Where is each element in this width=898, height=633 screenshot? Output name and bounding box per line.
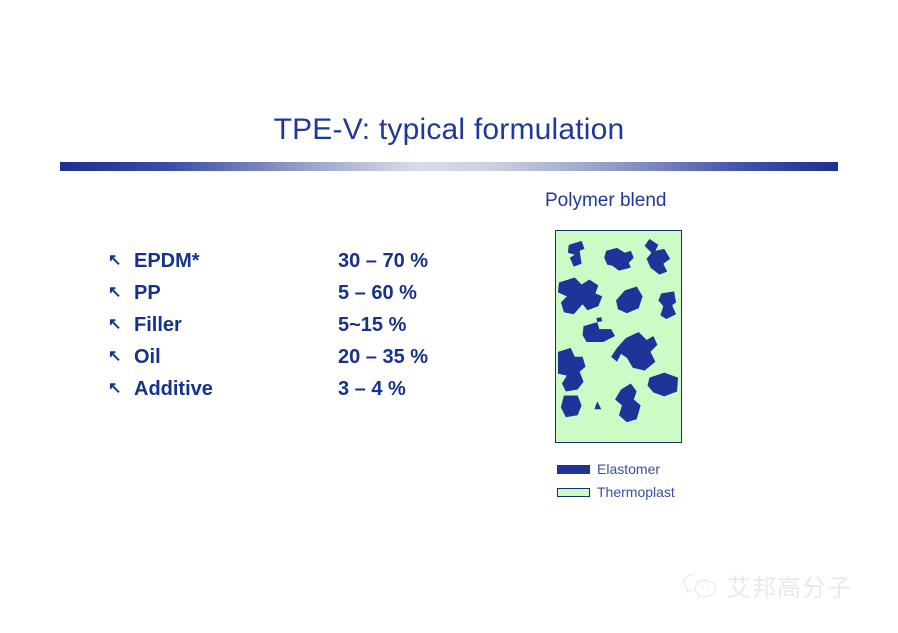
arrow-northwest-icon: ↖ [108,245,130,277]
component-value: 20 – 35 % [338,341,428,373]
watermark: 艾邦高分子 [682,568,852,603]
component-label: Additive [134,373,213,405]
component-value: 5 – 60 % [338,277,417,309]
list-item: ↖ Additive 3 – 4 % [108,373,468,405]
wechat-bubbles-icon [682,571,718,601]
legend-label: Thermoplast [597,481,675,504]
legend-label: Elastomer [597,458,660,481]
component-value: 5~15 % [338,309,406,341]
legend-item-thermoplast: Thermoplast [557,481,757,504]
title-divider-bar [60,162,838,171]
legend-swatch-elastomer-icon [557,465,590,474]
arrow-northwest-icon: ↖ [108,341,130,373]
arrow-northwest-icon: ↖ [108,309,130,341]
component-label: PP [134,277,161,309]
slide-canvas: TPE-V: typical formulation ↖ EPDM* 30 – … [0,0,898,633]
list-item: ↖ Oil 20 – 35 % [108,341,468,373]
formulation-list: ↖ EPDM* 30 – 70 % ↖ PP 5 – 60 % ↖ Filler… [108,245,468,405]
blend-morphology-svg [556,231,681,442]
legend-item-elastomer: Elastomer [557,458,757,481]
page-title: TPE-V: typical formulation [0,113,898,147]
list-item: ↖ Filler 5~15 % [108,309,468,341]
list-item: ↖ PP 5 – 60 % [108,277,468,309]
elastomer-particles [558,239,678,422]
blend-legend: Elastomer Thermoplast [557,458,757,504]
arrow-northwest-icon: ↖ [108,277,130,309]
component-label: Oil [134,341,161,373]
polymer-blend-heading: Polymer blend [545,190,666,212]
component-label: Filler [134,309,182,341]
list-item: ↖ EPDM* 30 – 70 % [108,245,468,277]
component-value: 30 – 70 % [338,245,428,277]
arrow-northwest-icon: ↖ [108,373,130,405]
component-label: EPDM* [134,245,200,277]
legend-swatch-thermoplast-icon [557,488,590,497]
polymer-blend-diagram [555,230,682,443]
watermark-text: 艾邦高分子 [727,568,852,603]
component-value: 3 – 4 % [338,373,406,405]
